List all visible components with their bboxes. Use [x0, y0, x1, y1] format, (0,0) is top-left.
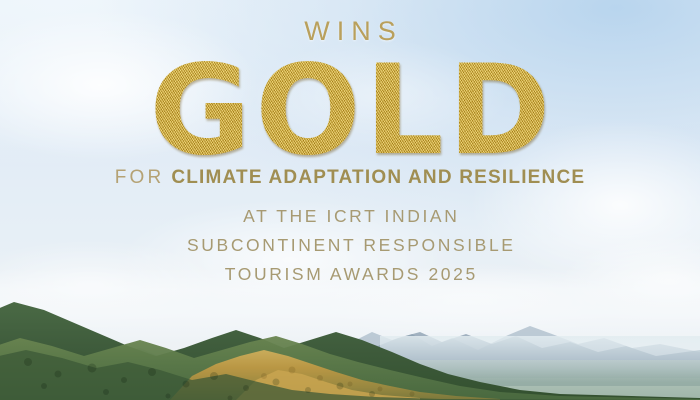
- award-poster: WINS GOLD FOR CLIMATE ADAPTATION AND RES…: [0, 0, 700, 400]
- award-text-block: WINS GOLD FOR CLIMATE ADAPTATION AND RES…: [0, 0, 700, 289]
- award-detail-lines: AT THE ICRT INDIAN SUBCONTINENT RESPONSI…: [0, 202, 700, 289]
- gold-headline-wrap: GOLD: [0, 49, 700, 153]
- foliage-texture-overlay: [0, 290, 700, 400]
- detail-line: SUBCONTINENT RESPONSIBLE: [0, 231, 700, 260]
- detail-line: AT THE ICRT INDIAN: [0, 202, 700, 231]
- gold-headline: GOLD: [145, 49, 554, 173]
- detail-line: TOURISM AWARDS 2025: [0, 260, 700, 289]
